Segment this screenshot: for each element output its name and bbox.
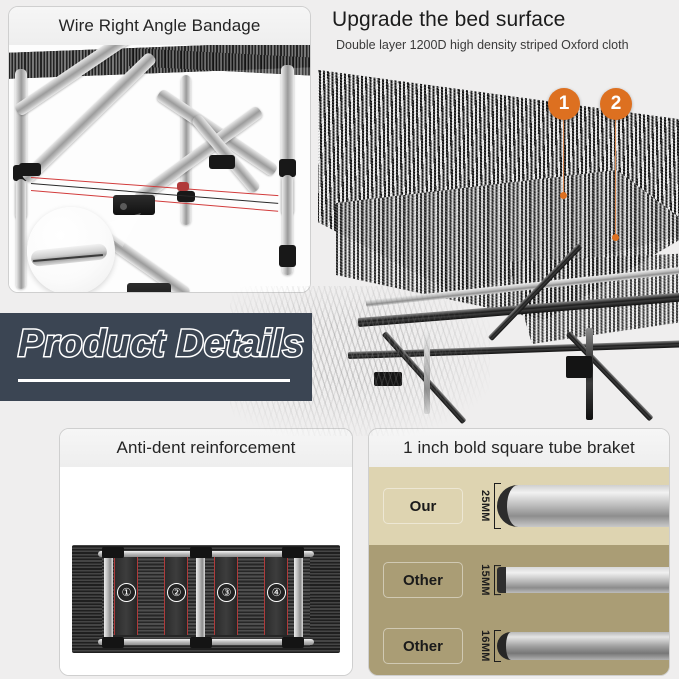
antident-panel-body: ① ② ③ ④ bbox=[60, 467, 352, 675]
floor-foot-bottom bbox=[127, 283, 171, 292]
square-tube-bracket-panel: 1 inch bold square tube braket Our 25MM … bbox=[368, 428, 670, 676]
callout-badge-2[interactable]: 2 bbox=[600, 88, 632, 120]
wire-panel-title: Wire Right Angle Bandage bbox=[9, 7, 310, 46]
rib-number-4: ④ bbox=[267, 583, 286, 602]
leg-tube-left-lower bbox=[16, 179, 26, 289]
tube-sample-other-16 bbox=[497, 632, 669, 660]
rib-number-2: ② bbox=[167, 583, 186, 602]
brace-pivot-right bbox=[209, 155, 235, 169]
tube-row-other-15-label: Other bbox=[383, 562, 463, 598]
wire-panel-photo bbox=[9, 45, 310, 292]
wire-right-angle-bandage-panel: Wire Right Angle Bandage bbox=[8, 6, 311, 293]
tube-row-our-label: Our bbox=[383, 488, 463, 524]
tube-sample-other-15 bbox=[497, 567, 669, 593]
bed-clip-bottom-center bbox=[190, 637, 212, 648]
rib-number-4-label: ④ bbox=[272, 586, 282, 599]
rib-number-3: ③ bbox=[217, 583, 236, 602]
hero-subtitle: Double layer 1200D high density striped … bbox=[336, 38, 629, 52]
folding-bed-frame-photo bbox=[9, 45, 310, 292]
tube-row-other-15: Other 15MM bbox=[369, 545, 669, 615]
callout-badge-1-label: 1 bbox=[559, 93, 570, 115]
rib-number-2-label: ② bbox=[172, 586, 182, 599]
bed-leg-left bbox=[104, 553, 113, 645]
callout-line-1 bbox=[563, 108, 564, 196]
bed-clip-bottom-right bbox=[282, 637, 304, 648]
tube-row-other-16-label: Other bbox=[383, 628, 463, 664]
product-details-banner: Product Details bbox=[0, 313, 312, 401]
magnifier-loupe bbox=[27, 207, 115, 292]
banner-underline bbox=[18, 379, 290, 382]
callout-dot-1 bbox=[560, 192, 567, 199]
bed-clip-top-center bbox=[190, 547, 212, 558]
tube-row-other-16-dimension-text: 16MM bbox=[479, 630, 491, 662]
leg-foot-cap-right bbox=[279, 245, 296, 267]
tube-row-other-15-dimension-text: 15MM bbox=[479, 564, 491, 596]
anti-dent-reinforcement-panel: Anti-dent reinforcement ① ② ③ ④ bbox=[59, 428, 353, 676]
tube-sample-our bbox=[497, 485, 669, 527]
floor-foot-center bbox=[113, 195, 155, 215]
callout-badge-2-label: 2 bbox=[611, 93, 622, 115]
tube-row-our: Our 25MM bbox=[369, 467, 669, 545]
tube-panel-body: Our 25MM Other 15MM Other 16MM bbox=[369, 467, 669, 675]
tube-row-our-dimension-text: 25MM bbox=[479, 490, 491, 522]
bed-leg-center bbox=[196, 553, 205, 645]
rib-number-3-label: ③ bbox=[222, 586, 232, 599]
callout-badge-1[interactable]: 1 bbox=[548, 88, 580, 120]
wire-center-clip bbox=[177, 182, 189, 191]
bed-clip-top-left bbox=[102, 547, 124, 558]
frame-joint-right bbox=[566, 356, 592, 378]
rib-number-1: ① bbox=[117, 583, 136, 602]
rib-number-1-label: ① bbox=[122, 586, 132, 599]
product-details-title: Product Details bbox=[18, 323, 304, 366]
bed-top-view-diagram: ① ② ③ ④ bbox=[72, 545, 340, 653]
hero-title: Upgrade the bed surface bbox=[332, 8, 565, 32]
callout-line-2 bbox=[615, 108, 616, 238]
tube-row-other-16: Other 16MM bbox=[369, 615, 669, 675]
bed-clip-bottom-left bbox=[102, 637, 124, 648]
callout-dot-2 bbox=[612, 234, 619, 241]
bed-leg-right bbox=[294, 553, 303, 645]
bed-clip-top-right bbox=[282, 547, 304, 558]
brace-pivot-left bbox=[19, 163, 41, 176]
